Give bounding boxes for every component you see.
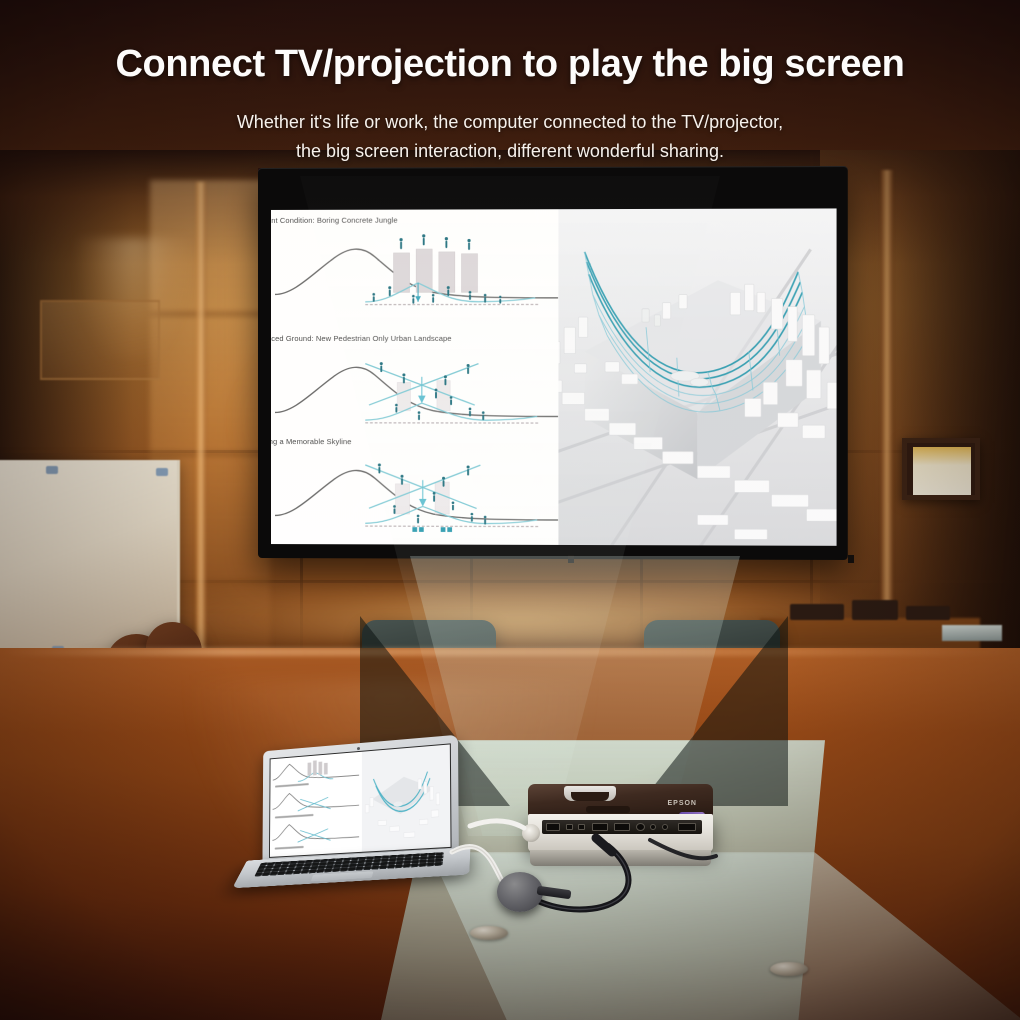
framed-picture	[902, 438, 980, 500]
projector-port-9[interactable]	[678, 823, 696, 831]
table-edge-highlight	[0, 648, 1020, 656]
projector-port-1[interactable]	[546, 823, 560, 831]
slide-panel-3: ing a Memorable Skyline	[271, 437, 558, 541]
wall-mounted-tv: ent Condition: Boring Concrete Jungle	[258, 168, 842, 558]
laptop-trackpad[interactable]	[311, 871, 374, 881]
tv-screen: ent Condition: Boring Concrete Jungle	[271, 208, 837, 545]
video-projector[interactable]: EPSON	[528, 784, 713, 874]
projector-base	[530, 850, 711, 866]
subtitle-line-2: the big screen interaction, different wo…	[0, 137, 1020, 166]
projector-port-3[interactable]	[578, 824, 585, 830]
projector-port-8[interactable]	[662, 824, 668, 830]
laptop-webcam-icon	[357, 747, 360, 750]
tv-bezel: ent Condition: Boring Concrete Jungle	[258, 166, 848, 560]
slide-panel-3-title: ing a Memorable Skyline	[271, 437, 558, 446]
laptop-slide-left	[270, 752, 362, 857]
projector-port-panel[interactable]	[542, 820, 702, 834]
projector-vent-icon	[586, 806, 630, 813]
subtitle: Whether it's life or work, the computer …	[0, 108, 1020, 166]
projector-port-6[interactable]	[636, 823, 645, 831]
slide-panel-3-diagram	[275, 446, 558, 533]
laptop-3d-render	[362, 744, 451, 851]
slide-left-column: ent Condition: Boring Concrete Jungle	[271, 209, 558, 545]
projector-port-4[interactable]	[592, 823, 608, 831]
projector-port-2[interactable]	[566, 824, 573, 830]
page-title: Connect TV/projection to play the big sc…	[0, 45, 1020, 85]
product-marketing-image: ent Condition: Boring Concrete Jungle	[0, 0, 1020, 1020]
slide-panel-1: ent Condition: Boring Concrete Jungle	[271, 215, 558, 326]
laptop-slide-right	[362, 744, 451, 851]
tv-mount-foot-right	[848, 555, 854, 563]
laptop-lid: MacBook Pro	[262, 735, 458, 867]
slide-panel-2-diagram	[275, 342, 558, 429]
paper-stack	[942, 625, 1002, 641]
table-grommet-2	[770, 962, 808, 976]
tv-mount-foot-left	[568, 555, 574, 563]
credenza-items	[790, 600, 950, 630]
laptop-screen	[270, 744, 451, 856]
projector-carry-handle[interactable]	[564, 786, 616, 801]
laptop[interactable]: MacBook Pro	[246, 742, 470, 902]
projector-brand-badge: EPSON	[667, 800, 697, 807]
subtitle-line-1: Whether it's life or work, the computer …	[0, 108, 1020, 137]
urban-massing-model	[558, 208, 837, 545]
laptop-slide-diagrams	[270, 752, 362, 857]
projector-port-7[interactable]	[650, 824, 656, 830]
table-grommet-1b	[470, 926, 508, 940]
slide-panel-2: aced Ground: New Pedestrian Only Urban L…	[271, 333, 558, 437]
slide-panel-1-diagram	[275, 224, 558, 311]
projector-lens-icon	[522, 824, 540, 842]
slide-right-3d-render	[558, 208, 837, 545]
slide-panel-2-title: aced Ground: New Pedestrian Only Urban L…	[271, 333, 558, 342]
projector-port-5[interactable]	[614, 823, 630, 831]
right-wall-post	[881, 170, 893, 670]
